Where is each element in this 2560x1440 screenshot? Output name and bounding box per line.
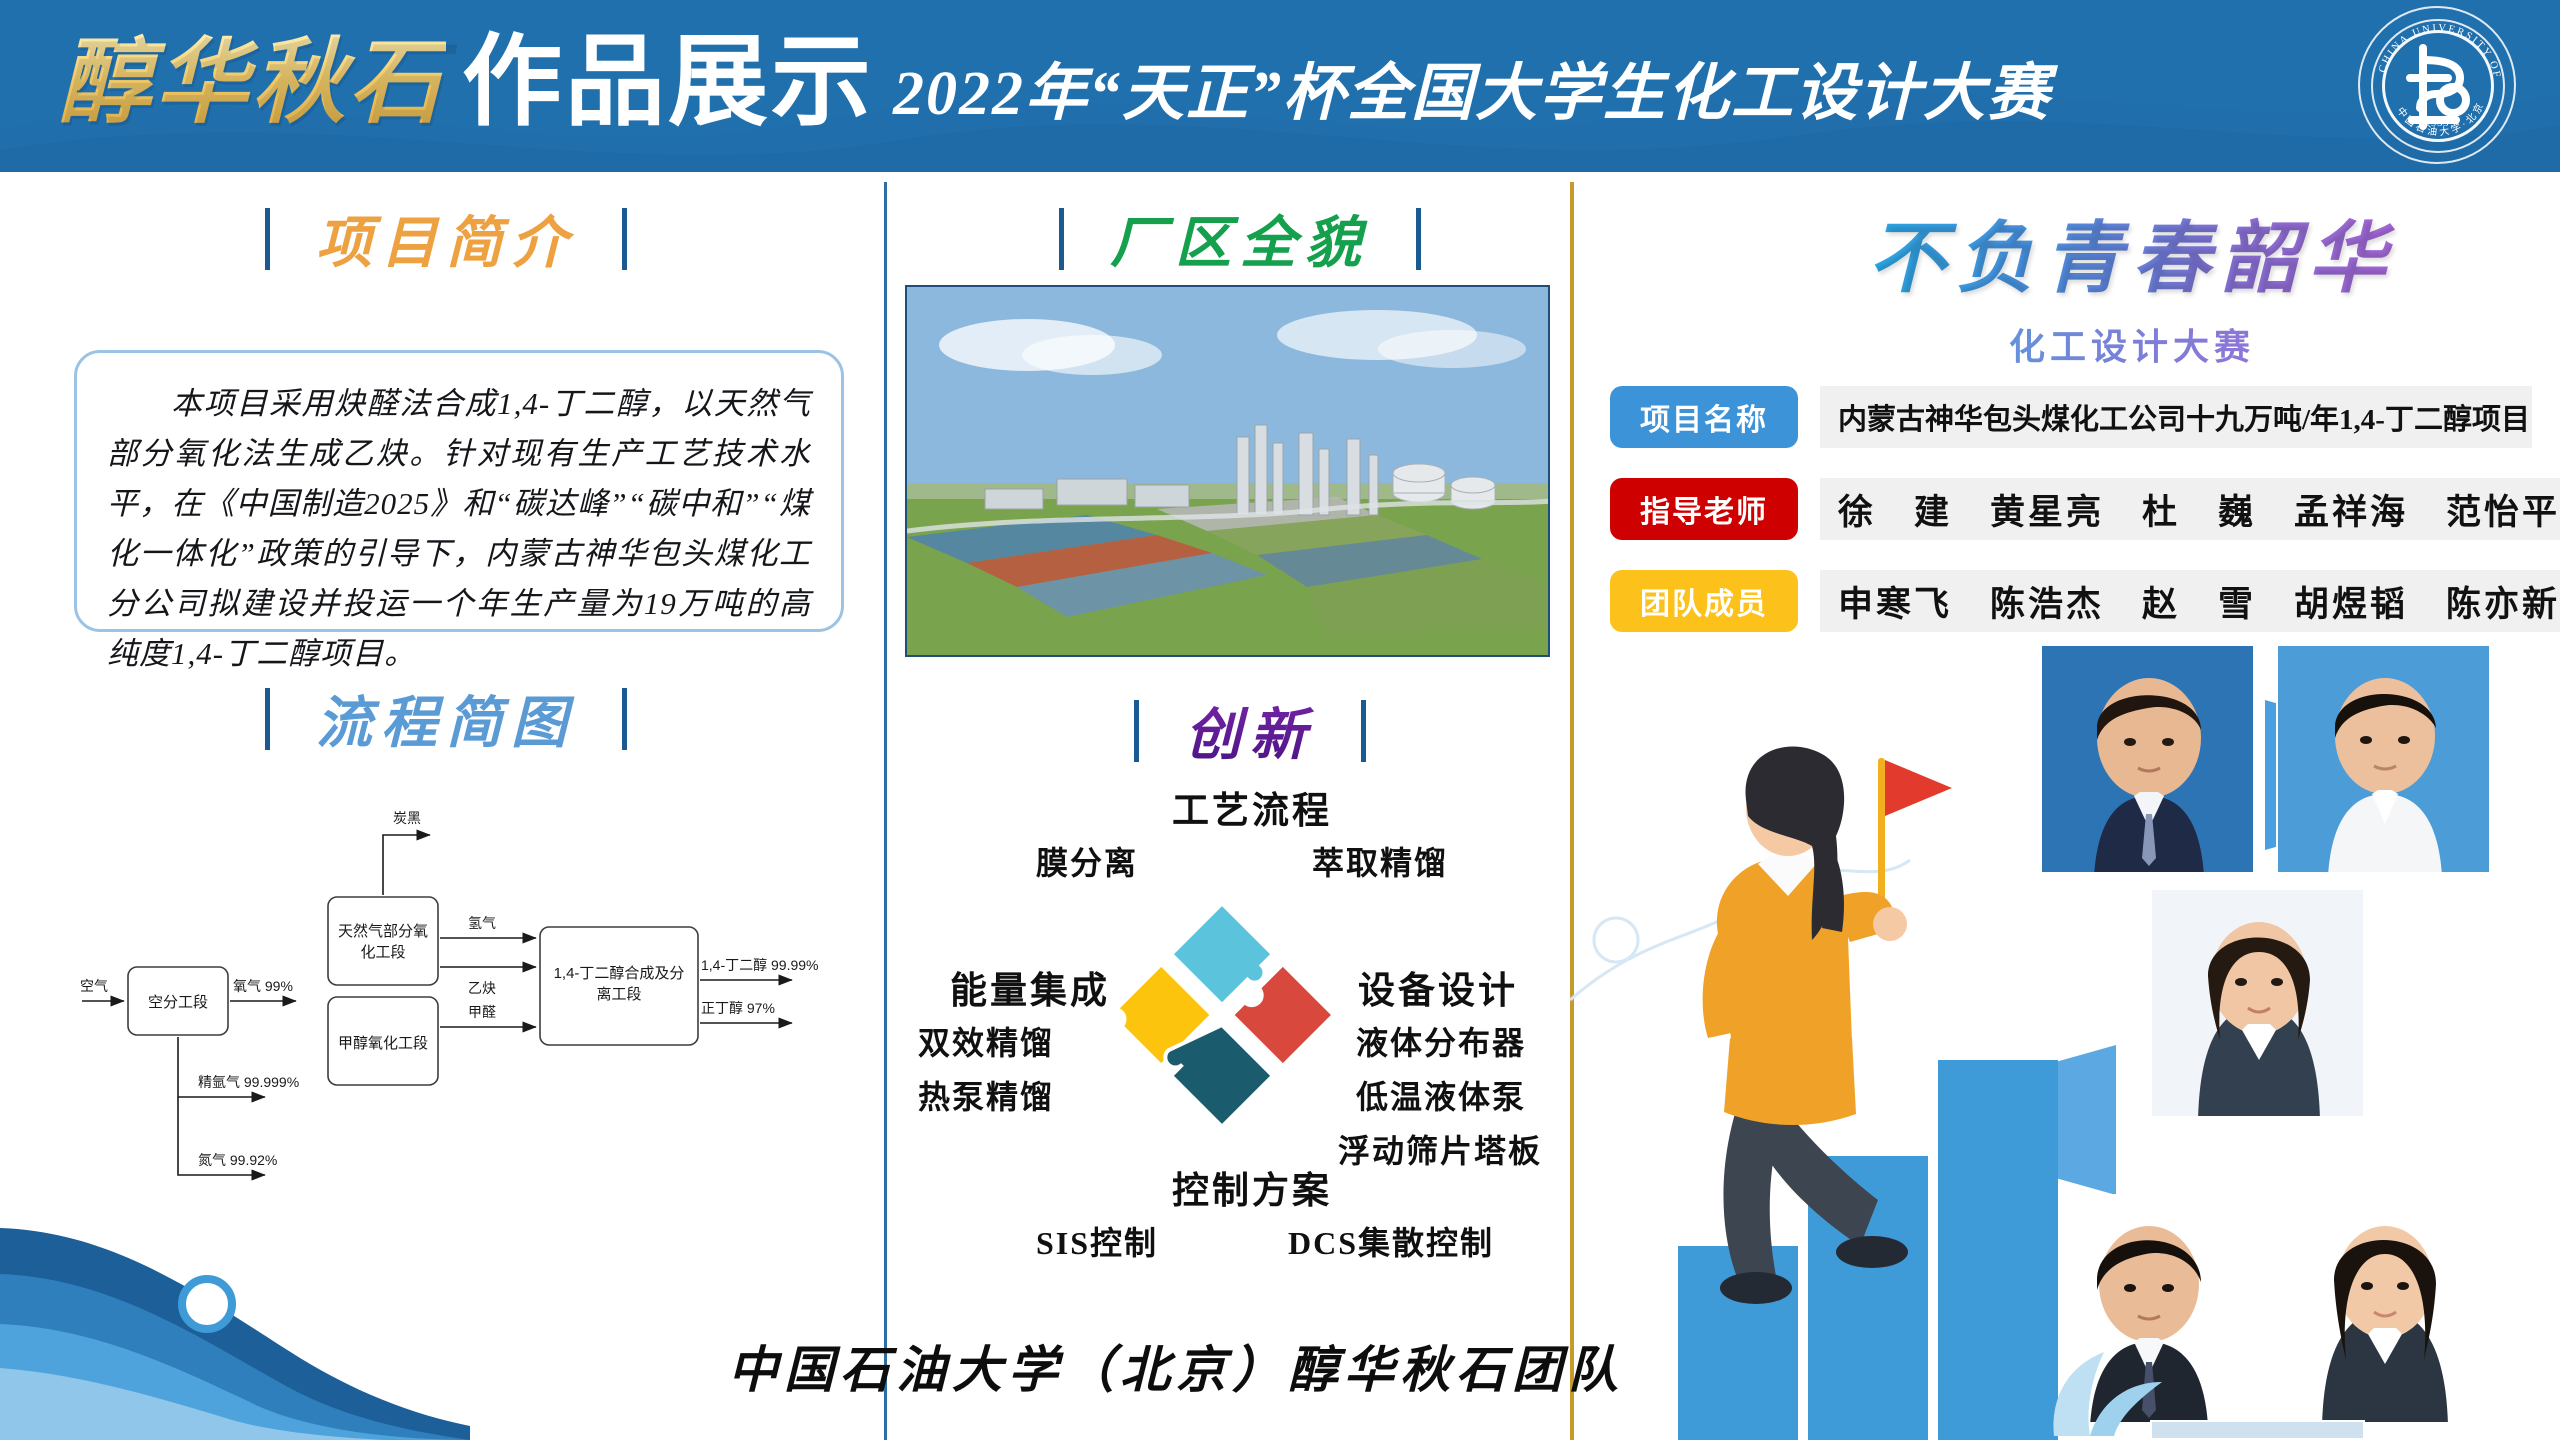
info-value-team: 申寒飞 陈浩杰 赵 雪 胡煜韬 陈亦新 [1820, 570, 2560, 632]
poster-title-white: 作品展示 [462, 24, 874, 142]
heading-bar-left [265, 688, 270, 750]
flow-box-ngpox-label-2: 化工段 [360, 944, 405, 961]
section-heading-innovation: 创新 [990, 690, 1510, 771]
flow-heading-text: 流程简图 [316, 678, 576, 759]
svg-text:CHINA UNIVERSITY OF PETROLEUM: CHINA UNIVERSITY OF PETROLEUM [2360, 8, 2503, 84]
innovation-control-title: 控制方案 [1172, 1160, 1332, 1214]
info-row-project: 项目名称 内蒙古神华包头煤化工公司十九万吨/年1,4-丁二醇项目 [1610, 386, 2532, 448]
flow-box-meohox-label: 甲醇氧化工段 [338, 1035, 428, 1052]
bg-circle [1594, 918, 1638, 962]
section-heading-plant: 厂区全貌 [1000, 198, 1480, 279]
heading-bar-right [1416, 208, 1421, 270]
right-slogan-sub: 化工设计大赛 [1782, 318, 2482, 370]
innovation-equipment-item-0: 液体分布器 [1356, 1018, 1526, 1064]
intro-heading-text: 项目简介 [316, 198, 576, 279]
heading-bar-right [1361, 700, 1366, 762]
flow-stream-air: 空气 [80, 978, 108, 994]
innovation-heading-text: 创新 [1185, 690, 1315, 771]
poster-root: 醇华秋石 作品展示 2022年“天正”杯全国大学生化工设计大赛 CHINA UN… [0, 0, 2560, 1440]
innovation-equipment-item-2: 浮动筛片塔板 [1338, 1126, 1542, 1172]
plant-heading-text: 厂区全貌 [1110, 198, 1370, 279]
project-intro-text: 本项目采用炔醛法合成1,4-丁二醇，以天然气部分氧化法生成乙炔。针对现有生产工艺… [107, 379, 811, 679]
poster-title-gold: 醇华秋石 [58, 28, 446, 140]
heading-bar-left [265, 208, 270, 270]
flow-box-asu-label: 空分工段 [148, 994, 208, 1011]
info-value-advisors: 徐 建 黄星亮 杜 巍 孟祥海 范怡平 [1820, 478, 2560, 540]
project-intro-card: 本项目采用炔醛法合成1,4-丁二醇，以天然气部分氧化法生成乙炔。针对现有生产工艺… [74, 350, 844, 632]
info-key-team: 团队成员 [1610, 570, 1798, 632]
info-value-project: 内蒙古神华包头煤化工公司十九万吨/年1,4-丁二醇项目 [1820, 386, 2532, 448]
innovation-puzzle-graphic [1097, 890, 1347, 1140]
info-key-advisors: 指导老师 [1610, 478, 1798, 540]
seal-year: 1953 [2360, 117, 2514, 129]
flow-stream-o2: 氧气 99% [233, 978, 293, 994]
bottom-left-wave-decoration [0, 1110, 470, 1440]
innovation-energy-item-0: 双效精馏 [918, 1018, 1054, 1064]
flow-stream-bdo-out: 1,4-丁二醇 99.99% [701, 957, 819, 973]
puzzle-svg [1097, 890, 1347, 1140]
innovation-process-item-1: 萃取精馏 [1312, 838, 1448, 884]
flow-box-ngpox-label-1: 天然气部分氧 [338, 923, 428, 940]
plant-overview-image [905, 285, 1550, 657]
poster-subtitle: 2022年“天正”杯全国大学生化工设计大赛 [893, 58, 2051, 130]
heading-bar-right [622, 688, 627, 750]
flow-stream-hcho: 甲醛 [468, 1004, 496, 1020]
right-slogan: 不负青春韶华 [1782, 196, 2482, 308]
innovation-process-item-0: 膜分离 [1036, 838, 1138, 884]
section-heading-flow: 流程简图 [246, 678, 646, 759]
flow-arrow-carbonblack [383, 835, 430, 895]
seal-inner-graphic: CHINA UNIVERSITY OF PETROLEUM 中国石油大学·北京 [2360, 8, 2518, 166]
plant-render-svg [907, 287, 1550, 657]
bottom-right-leaf-decoration [2020, 1290, 2220, 1440]
university-seal-icon: CHINA UNIVERSITY OF PETROLEUM 中国石油大学·北京 … [2358, 6, 2516, 164]
innovation-equipment-item-1: 低温液体泵 [1356, 1072, 1526, 1118]
heading-bar-right [622, 208, 627, 270]
info-key-project: 项目名称 [1610, 386, 1798, 448]
flow-stream-c2h2: 乙炔 [468, 980, 496, 996]
flow-box-bdo-label-1: 1,4-丁二醇合成及分 [554, 965, 685, 982]
flow-box-ngpox [328, 897, 438, 985]
flow-box-bdo-label-2: 离工段 [596, 986, 641, 1003]
info-row-advisors: 指导老师 徐 建 黄星亮 杜 巍 孟祥海 范怡平 [1610, 478, 2560, 540]
innovation-energy-title: 能量集成 [950, 960, 1110, 1014]
section-heading-intro: 项目简介 [236, 198, 656, 279]
flow-stream-h2: 氢气 [468, 915, 496, 931]
flow-stream-nbuoh: 正丁醇 97% [701, 1000, 775, 1016]
heading-bar-left [1134, 700, 1139, 762]
member-photo-5-svg [2278, 1196, 2491, 1424]
innovation-control-item-0: SIS控制 [1036, 1218, 1158, 1264]
innovation-equipment-title: 设备设计 [1358, 960, 1518, 1014]
innovation-control-item-1: DCS集散控制 [1288, 1218, 1494, 1264]
flag-banner [1885, 760, 1952, 816]
heading-bar-left [1059, 208, 1064, 270]
member-photo-5 [2276, 1194, 2491, 1424]
poster-header: 醇华秋石 作品展示 2022年“天正”杯全国大学生化工设计大赛 CHINA UN… [0, 0, 2560, 172]
innovation-energy-item-1: 热泵精馏 [918, 1072, 1054, 1118]
member-photo-2-svg [2278, 646, 2491, 874]
bottom-left-ring-decoration [178, 1275, 236, 1333]
innovation-process-title: 工艺流程 [1172, 780, 1332, 834]
flow-stream-argon: 精氩气 99.999% [198, 1074, 299, 1090]
flow-stream-carbonblack: 炭黑 [393, 810, 421, 826]
member-photo-2 [2276, 644, 2491, 874]
footer-team-text: 中国石油大学（北京）醇华秋石团队 [728, 1330, 1624, 1402]
info-row-team: 团队成员 申寒飞 陈浩杰 赵 雪 胡煜韬 陈亦新 [1610, 570, 2560, 632]
